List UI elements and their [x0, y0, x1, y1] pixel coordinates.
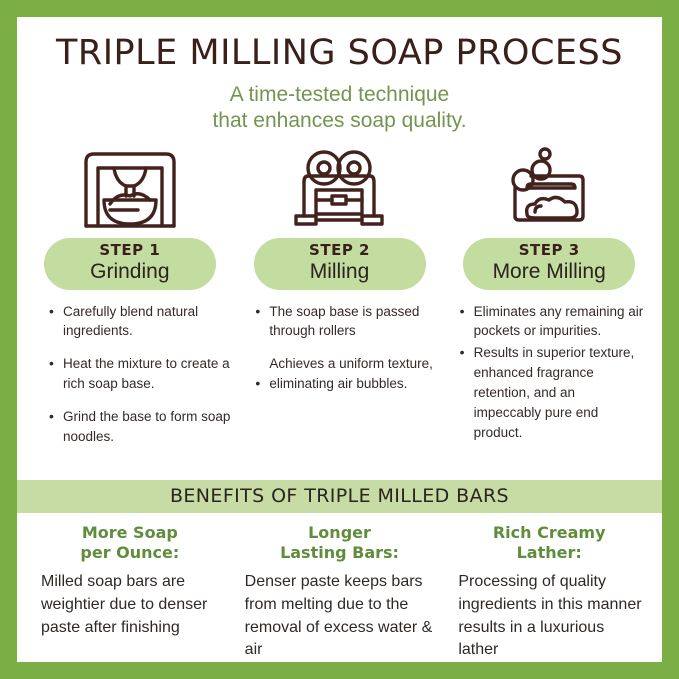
benefit-rich-creamy-lather: Rich Creamy Lather: Processing of qualit…: [444, 523, 654, 662]
grinder-mixer-icon: [78, 146, 182, 232]
list-item: Grind the base to form soap noodles.: [49, 407, 233, 447]
step-1-bullets: Carefully blend natural ingredients. Hea…: [27, 302, 241, 447]
step-2-label: STEP 2: [280, 242, 400, 259]
step-3: STEP 3 More Milling: [444, 146, 654, 289]
page-title: TRIPLE MILLING SOAP PROCESS: [17, 35, 662, 72]
step-3-badge: STEP 3 More Milling: [463, 238, 635, 289]
benefit-heading: Longer Lasting Bars:: [245, 523, 435, 563]
steps-row: STEP 1 Grinding: [17, 146, 662, 289]
step-2-badge: STEP 2 Milling: [254, 238, 426, 289]
step-2: STEP 2 Milling: [235, 146, 445, 289]
benefit-heading-line-2: Lasting Bars:: [245, 543, 435, 563]
soap-bar-bubbles-icon: [497, 146, 601, 232]
list-item: Achieves a uniform texture, eliminating …: [255, 354, 439, 394]
step-2-bullets: The soap base is passed through rollers …: [241, 302, 447, 447]
benefit-body: Milled soap bars are weightier due to de…: [35, 571, 225, 639]
step-3-bullets: Eliminates any remaining air pockets or …: [448, 302, 652, 447]
benefit-body: Denser paste keeps bars from melting due…: [245, 571, 435, 662]
subtitle-line-1: A time-tested technique: [17, 82, 662, 108]
step-details-row: Carefully blend natural ingredients. Hea…: [17, 290, 662, 447]
benefit-heading-line-1: Longer: [245, 523, 435, 543]
benefits-band: BENEFITS OF TRIPLE MILLED BARS: [17, 480, 662, 513]
step-1: STEP 1 Grinding: [25, 146, 235, 289]
benefit-heading-line-2: Lather:: [454, 543, 644, 563]
benefits-row: More Soap per Ounce: Milled soap bars ar…: [17, 513, 662, 662]
benefits-band-title: BENEFITS OF TRIPLE MILLED BARS: [170, 485, 509, 507]
step-1-badge: STEP 1 Grinding: [44, 238, 216, 289]
subtitle-line-2: that enhances soap quality.: [17, 108, 662, 134]
list-item: Heat the mixture to create a rich soap b…: [49, 354, 233, 394]
benefit-longer-lasting-bars: Longer Lasting Bars: Denser paste keeps …: [235, 523, 445, 662]
list-item: The soap base is passed through rollers: [255, 302, 439, 342]
step-3-name: More Milling: [489, 260, 609, 283]
step-2-name: Milling: [280, 260, 400, 283]
list-item: Eliminates any remaining air pockets or …: [460, 302, 644, 342]
infographic-card: TRIPLE MILLING SOAP PROCESS A time-teste…: [17, 17, 662, 662]
subtitle: A time-tested technique that enhances so…: [17, 82, 662, 135]
benefit-body: Processing of quality ingredients in thi…: [454, 571, 644, 662]
benefit-heading-line-2: per Ounce:: [35, 543, 225, 563]
infographic-page: TRIPLE MILLING SOAP PROCESS A time-teste…: [0, 0, 679, 679]
benefit-heading: Rich Creamy Lather:: [454, 523, 644, 563]
step-1-label: STEP 1: [70, 242, 190, 259]
roller-mill-icon: [288, 146, 392, 232]
benefit-more-soap-per-ounce: More Soap per Ounce: Milled soap bars ar…: [25, 523, 235, 662]
step-1-name: Grinding: [70, 260, 190, 283]
benefit-heading-line-1: Rich Creamy: [454, 523, 644, 543]
step-3-label: STEP 3: [489, 242, 609, 259]
list-item: Carefully blend natural ingredients.: [49, 302, 233, 342]
benefit-heading-line-1: More Soap: [35, 523, 225, 543]
header: TRIPLE MILLING SOAP PROCESS A time-teste…: [17, 17, 662, 134]
spacer: [17, 447, 662, 480]
benefit-heading: More Soap per Ounce:: [35, 523, 225, 563]
list-item: Results in superior texture, enhanced fr…: [460, 343, 644, 442]
